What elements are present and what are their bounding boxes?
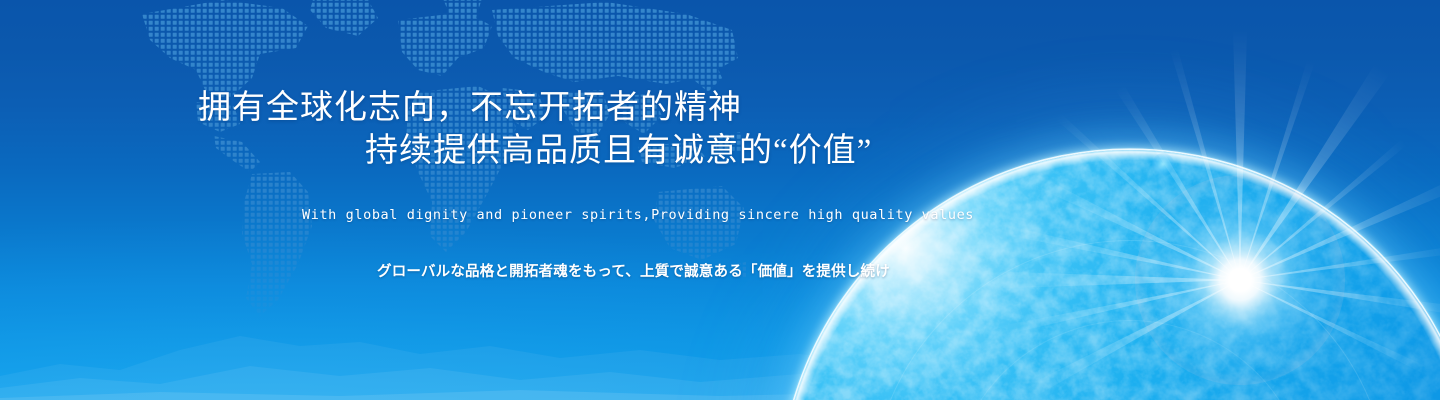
lens-flare-orb-icon — [1152, 153, 1174, 175]
planet-globe — [780, 150, 1440, 400]
hero-banner: 拥有全球化志向，不忘开拓者的精神 持续提供高品质且有诚意的“价值” With g… — [0, 0, 1440, 400]
sun-rays — [980, 20, 1440, 400]
planet-surface — [780, 150, 1440, 400]
headline-line-1: 拥有全球化志向，不忘开拓者的精神 — [198, 92, 742, 125]
sky-glow-wash — [0, 200, 1040, 400]
planet-atmosphere-rim — [777, 147, 1440, 400]
banner-copy: 拥有全球化志向，不忘开拓者的精神 持续提供高品质且有诚意的“价值” With g… — [0, 0, 1100, 400]
planet-orbit-arc — [950, 320, 1310, 400]
sun-halo-ring — [1135, 175, 1345, 385]
sun-core — [1150, 190, 1330, 370]
planet-orbit-arc — [870, 240, 1390, 400]
planet-texture — [780, 150, 1440, 400]
dotted-world-map — [46, 0, 746, 326]
subtitle-english: With global dignity and pioneer spirits,… — [302, 207, 974, 223]
mountain-ridge-silhouette — [0, 320, 1200, 400]
headline-line-2: 持续提供高品质且有诚意的“价值” — [365, 135, 872, 168]
subtitle-japanese: グローバルな品格と開拓者魂をもって、上質で誠意ある「価値」を提供し続け — [377, 260, 890, 281]
